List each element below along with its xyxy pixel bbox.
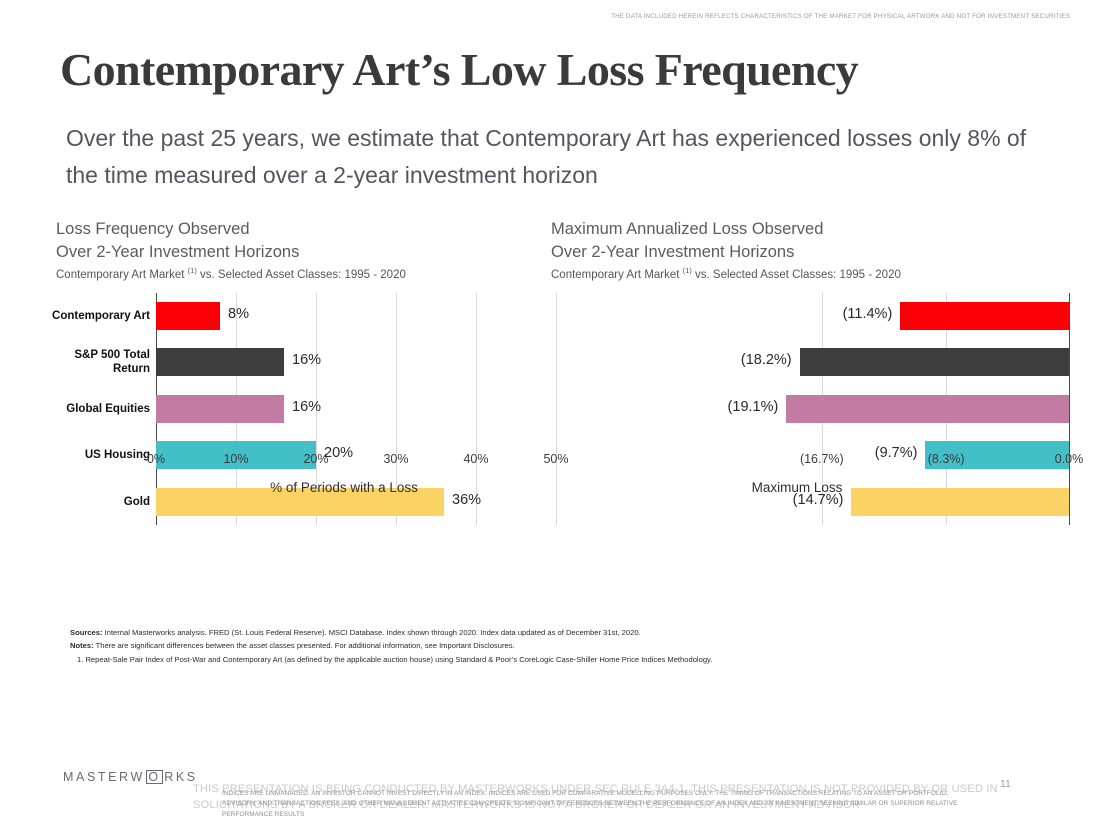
footnote-notes-label: Notes: <box>70 641 94 650</box>
x-axis-title-left: % of Periods with a Loss <box>94 480 594 495</box>
zero-axis-line <box>1069 293 1070 525</box>
page-title: Contemporary Art’s Low Loss Frequency <box>60 42 858 98</box>
category-label: S&P 500 Total Return <box>40 348 150 376</box>
x-tick-label: 20% <box>303 452 328 466</box>
footnote-sources-label: Sources: <box>70 628 103 637</box>
page-number: 11 <box>1000 778 1011 790</box>
logo-text-pre: MASTERW <box>63 770 145 784</box>
chart-subtitle-pre: Contemporary Art Market <box>551 269 683 281</box>
bar-value-label: 16% <box>292 352 321 368</box>
bar-value-label: (18.2%) <box>741 352 792 368</box>
footnote-item-1: 1. Repeat-Sale Pair Index of Post-War an… <box>70 653 970 666</box>
bar-row: S&P 500 Total Return16% <box>156 339 556 385</box>
footnote-notes-text: There are significant differences betwee… <box>94 641 515 650</box>
x-axis-ticks-right: (16.7%)(8.3%)0.0% <box>699 452 1069 472</box>
bar-value-label: 8% <box>228 306 249 322</box>
x-tick-label: (8.3%) <box>928 452 965 466</box>
category-label: Contemporary Art <box>40 309 150 323</box>
bar-row: (11.4%) <box>699 293 1069 339</box>
bar-value-label: 16% <box>292 399 321 415</box>
footnote-sources-text: Internal Masterworks analysis. FRED (St.… <box>103 628 641 637</box>
footer-disclaimer-secondary: INDICES ARE UNMANAGED. AN INVESTOR CANNO… <box>222 789 982 820</box>
x-tick-label: 0.0% <box>1055 452 1084 466</box>
slide: THE DATA INCLUDED HEREIN REFLECTS CHARAC… <box>0 0 1100 824</box>
chart-subtitle-footnote-marker: (1) <box>683 266 692 275</box>
masterworks-logo: MASTERWORKS <box>63 770 198 784</box>
bar-row: (18.2%) <box>699 339 1069 385</box>
bar-global-equities[interactable] <box>786 395 1069 423</box>
bar-row: Global Equities16% <box>156 386 556 432</box>
x-tick-label: 10% <box>223 452 248 466</box>
chart-subtitle: Contemporary Art Market (1) vs. Selected… <box>56 266 556 281</box>
bar-value-label: (11.4%) <box>843 306 893 322</box>
x-tick-label: 40% <box>463 452 488 466</box>
category-label: US Housing <box>40 448 150 462</box>
bar-value-label: (19.1%) <box>728 399 779 415</box>
chart-subtitle-footnote-marker: (1) <box>188 266 197 275</box>
bar-row: Contemporary Art8% <box>156 293 556 339</box>
chart-title-line2: Over 2-Year Investment Horizons <box>551 241 1071 264</box>
chart-title-line1: Maximum Annualized Loss Observed <box>551 218 1071 241</box>
x-tick-label: 0% <box>147 452 165 466</box>
chart-subtitle-post: vs. Selected Asset Classes: 1995 - 2020 <box>197 269 406 281</box>
x-tick-label: 30% <box>383 452 408 466</box>
bar-global-equities[interactable] <box>156 395 284 423</box>
chart-subtitle: Contemporary Art Market (1) vs. Selected… <box>551 266 1071 281</box>
bar-row: (19.1%) <box>699 386 1069 432</box>
chart-panel-maximum-loss: Maximum Annualized Loss Observed Over 2-… <box>551 218 1071 525</box>
logo-boxed-o: O <box>146 770 163 784</box>
chart-subtitle-pre: Contemporary Art Market <box>56 269 188 281</box>
bar-s-p-500-total-return[interactable] <box>156 348 284 376</box>
x-axis-title-right: Maximum Loss <box>537 480 1057 495</box>
chart-title-line2: Over 2-Year Investment Horizons <box>56 241 556 264</box>
top-disclaimer: THE DATA INCLUDED HEREIN REFLECTS CHARAC… <box>611 13 1070 20</box>
bar-contemporary-art[interactable] <box>156 302 220 330</box>
category-label: Global Equities <box>40 402 150 416</box>
footnote-notes: Notes: There are significant differences… <box>70 639 970 652</box>
category-label: Gold <box>40 495 150 509</box>
chart-panel-loss-frequency: Loss Frequency Observed Over 2-Year Inve… <box>56 218 556 525</box>
bar-contemporary-art[interactable] <box>900 302 1069 330</box>
bar-s-p-500-total-return[interactable] <box>800 348 1069 376</box>
footnote-sources: Sources: Internal Masterworks analysis. … <box>70 626 970 639</box>
page-subtitle: Over the past 25 years, we estimate that… <box>66 120 1056 194</box>
chart-title-line1: Loss Frequency Observed <box>56 218 556 241</box>
x-tick-label: (16.7%) <box>800 452 844 466</box>
footnotes: Sources: Internal Masterworks analysis. … <box>70 626 970 667</box>
x-axis-ticks-left: 0%10%20%30%40%50% <box>156 452 556 472</box>
chart-subtitle-post: vs. Selected Asset Classes: 1995 - 2020 <box>692 269 901 281</box>
